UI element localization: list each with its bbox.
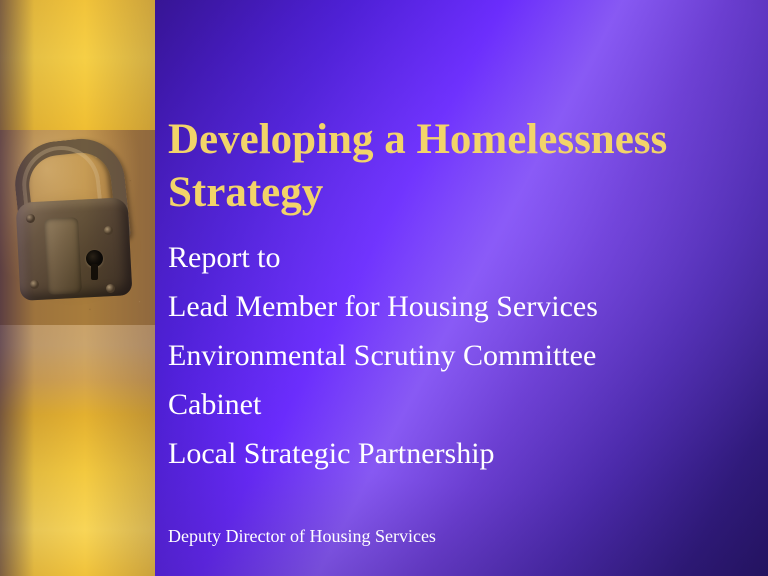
subtitle-line-1: Report to xyxy=(168,233,743,282)
subtitle-line-5: Local Strategic Partnership xyxy=(168,429,743,478)
padlock-keyhole-slot xyxy=(91,264,98,280)
presentation-slide: Developing a Homelessness Strategy Repor… xyxy=(0,0,768,576)
padlock-rivet xyxy=(104,226,113,235)
subtitle-line-2: Lead Member for Housing Services xyxy=(168,282,743,331)
padlock-rivet xyxy=(26,214,35,223)
padlock-rivet xyxy=(30,280,39,289)
padlock-photo xyxy=(0,130,155,325)
slide-footer: Deputy Director of Housing Services xyxy=(168,525,436,547)
padlock-rivet xyxy=(106,284,115,293)
padlock-faceplate xyxy=(44,217,82,295)
slide-subtitle-block: Report to Lead Member for Housing Servic… xyxy=(168,233,743,478)
subtitle-line-4: Cabinet xyxy=(168,380,743,429)
slide-title: Developing a Homelessness Strategy xyxy=(168,113,728,219)
subtitle-line-3: Environmental Scrutiny Committee xyxy=(168,331,743,380)
